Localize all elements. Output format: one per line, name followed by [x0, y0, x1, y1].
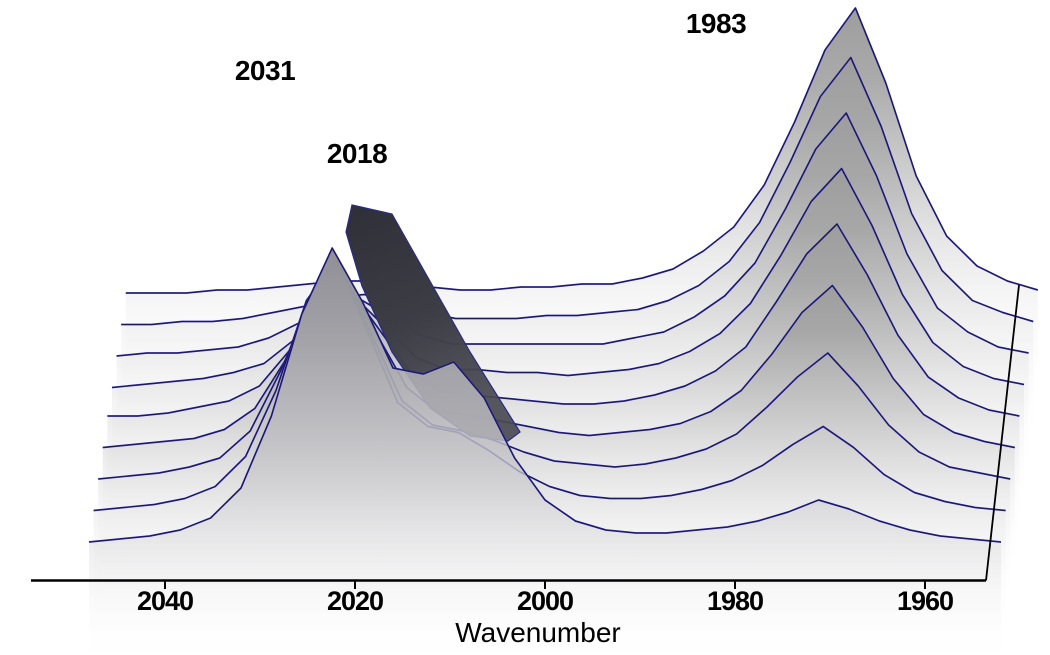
x-tick-label-1980: 1980 [707, 586, 763, 617]
x-axis-title: Wavenumber [455, 617, 620, 649]
x-tick-label-2040: 2040 [137, 586, 193, 617]
waterfall-spectrum-chart: 2040 2020 2000 1980 1960 Wavenumber 2031… [0, 0, 1050, 655]
x-tick-label-2000: 2000 [517, 586, 573, 617]
plot-canvas [0, 0, 1050, 655]
peak-label-2031: 2031 [235, 55, 295, 87]
peak-label-1983: 1983 [686, 8, 746, 40]
x-tick-label-2020: 2020 [327, 586, 383, 617]
trace-group [89, 8, 1038, 655]
peak-label-2018: 2018 [327, 138, 387, 170]
x-tick-label-1960: 1960 [897, 586, 953, 617]
